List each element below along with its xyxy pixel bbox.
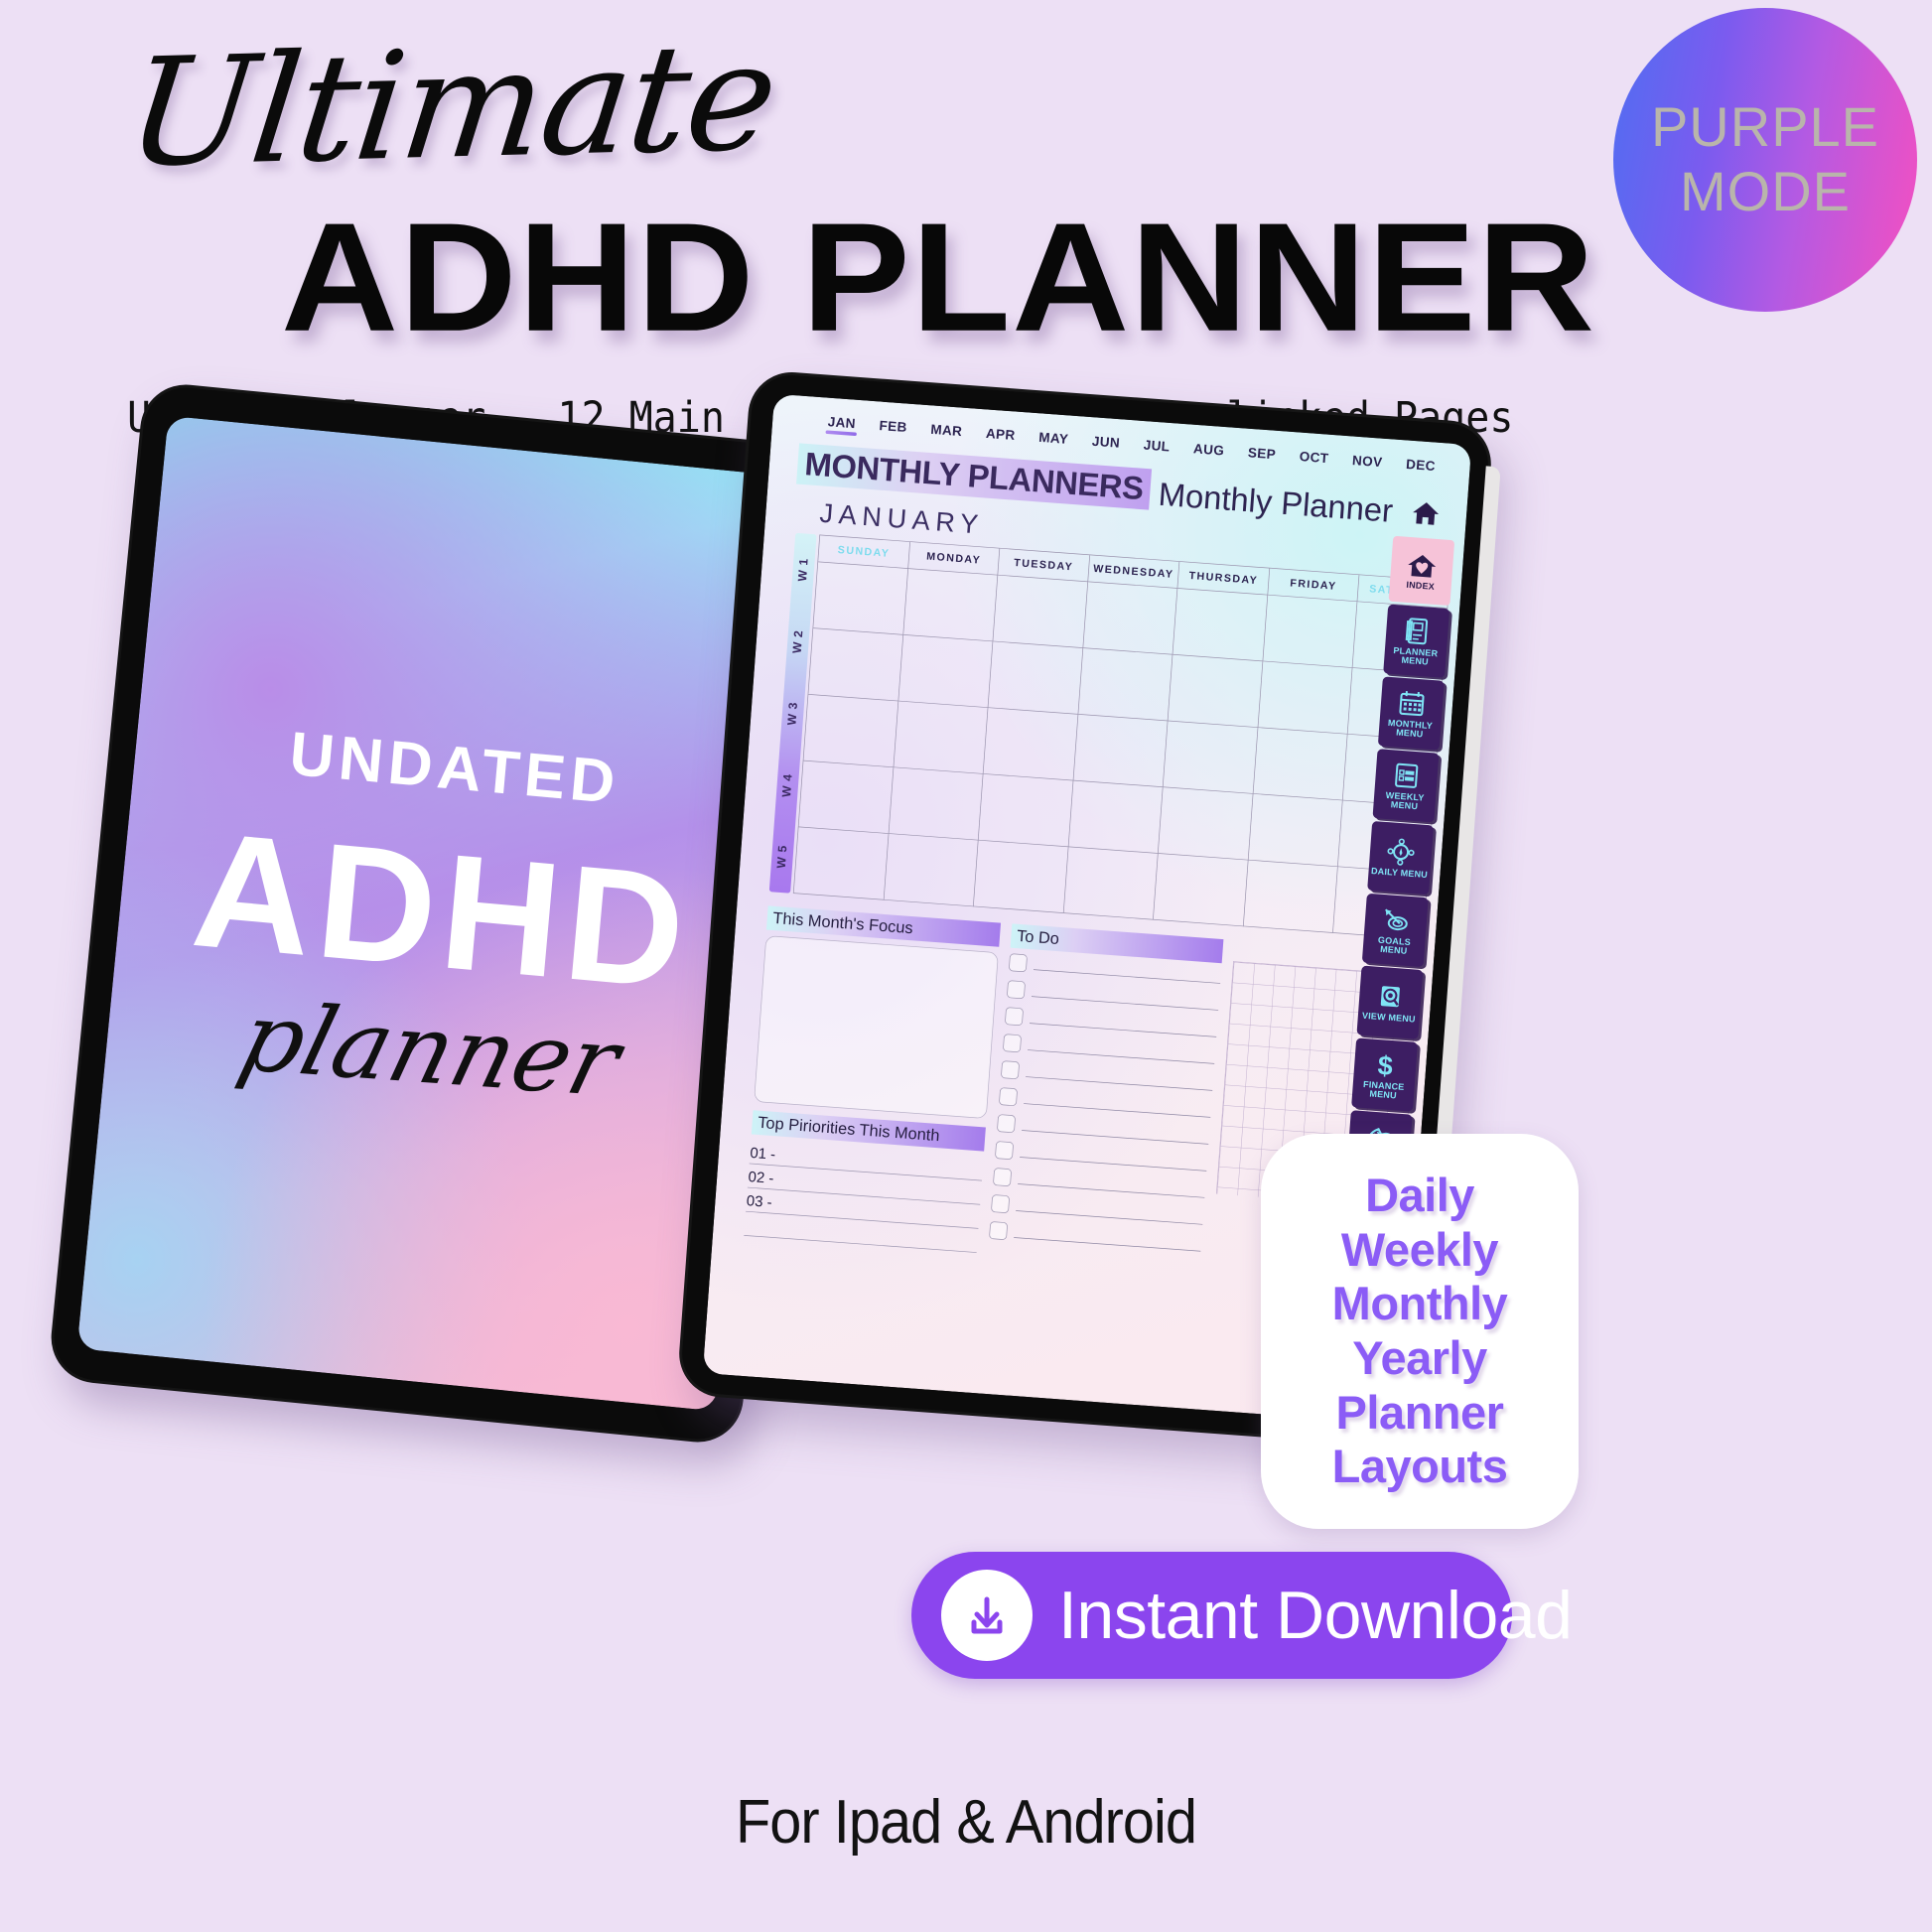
sidebar-item-weekly-menu[interactable]: WEEKLY MENU [1372, 749, 1439, 822]
sidebar-item-label: DAILY MENU [1371, 867, 1429, 881]
calendar-cell[interactable] [974, 841, 1068, 913]
week-label-w2: W 2 [785, 605, 812, 678]
todo-write-line[interactable] [1016, 1199, 1203, 1225]
compass-icon [1386, 836, 1416, 868]
calendar-cell[interactable] [898, 635, 993, 708]
focus-column: This Month's Focus Top Piriorities This … [744, 906, 1001, 1254]
calendar-wrapper: W 1 W 2 W 3 W 4 W 5 SUNDAY MONDAY TUESDA… [751, 532, 1455, 941]
dollar-icon: $ [1370, 1048, 1400, 1080]
todo-write-line[interactable] [1018, 1173, 1205, 1198]
target-arrow-icon [1381, 904, 1411, 936]
sidebar-item-daily-menu[interactable]: DAILY MENU [1367, 821, 1434, 895]
month-tab-oct[interactable]: OCT [1299, 450, 1329, 471]
month-tab-aug[interactable]: AUG [1192, 442, 1224, 463]
poster-canvas: Ultimate ADHD PLANNER Undated Planner - … [0, 0, 1932, 1932]
calendar-grid: SUNDAY MONDAY TUESDAY WEDNESDAY THURSDAY… [793, 535, 1449, 940]
sidebar-item-label: FINANCE MENU [1352, 1079, 1415, 1102]
calendar-cell[interactable] [1258, 661, 1352, 734]
todo-row[interactable] [1003, 1034, 1215, 1066]
sidebar-item-goals-menu[interactable]: GOALS MENU [1362, 894, 1429, 967]
svg-text:$: $ [1377, 1050, 1394, 1080]
month-tab-feb[interactable]: FEB [879, 419, 907, 440]
todo-column: To Do [988, 924, 1223, 1270]
month-tab-nov[interactable]: NOV [1351, 454, 1383, 475]
todo-write-line[interactable] [1024, 1092, 1211, 1118]
home-icon [1410, 499, 1442, 527]
purple-mode-badge: PURPLE MODE [1613, 8, 1917, 312]
calendar-cell[interactable] [808, 628, 902, 701]
calendar-cell[interactable] [1068, 781, 1163, 854]
todo-checkbox[interactable] [1001, 1060, 1020, 1079]
todo-row[interactable] [993, 1168, 1205, 1200]
calendar-cell[interactable] [1248, 794, 1342, 867]
calendar-cell[interactable] [1078, 648, 1173, 721]
todo-checkbox[interactable] [1005, 1007, 1024, 1026]
calendar-cell[interactable] [1169, 655, 1263, 728]
month-tab-jul[interactable]: JUL [1143, 438, 1171, 459]
sidebar-item-monthly-menu[interactable]: MONTHLY MENU [1378, 676, 1445, 750]
page-title: ADHD PLANNER [281, 189, 1595, 365]
calendar-cell[interactable] [1164, 722, 1258, 794]
week-label-w5: W 5 [769, 820, 796, 894]
calendar-cell[interactable] [1154, 854, 1248, 926]
priority-label-3: 03 - [746, 1193, 772, 1212]
todo-checkbox[interactable] [989, 1221, 1008, 1240]
todo-checkbox[interactable] [997, 1114, 1016, 1133]
feature-line-4: Yearly [1352, 1332, 1487, 1385]
todo-row[interactable] [1001, 1060, 1213, 1093]
calendar-cell[interactable] [1253, 728, 1347, 800]
feature-line-2: Weekly [1341, 1224, 1498, 1277]
todo-row[interactable] [989, 1221, 1201, 1254]
calendar-cell[interactable] [1263, 596, 1357, 668]
calendar-cell[interactable] [984, 708, 1078, 780]
sidebar-item-planner-menu[interactable]: PLANNER MENU [1383, 605, 1449, 678]
sidebar-item-label: GOALS MENU [1362, 934, 1425, 957]
todo-row[interactable] [1005, 1007, 1217, 1039]
script-title: Ultimate [119, 11, 783, 201]
download-icon-circle [941, 1570, 1033, 1661]
calendar-cell[interactable] [1173, 589, 1268, 661]
sidebar-item-label: MONTHLY MENU [1379, 718, 1442, 741]
home-button[interactable] [1402, 491, 1450, 534]
todo-row[interactable] [999, 1087, 1211, 1120]
home-heart-icon [1406, 550, 1438, 582]
footer-text: For Ipad & Android [68, 1787, 1864, 1858]
month-tab-mar[interactable]: MAR [930, 422, 963, 444]
todo-write-line[interactable] [1020, 1146, 1207, 1172]
calendar-cell[interactable] [794, 827, 889, 899]
month-tab-apr[interactable]: APR [985, 426, 1016, 447]
calendar-cell[interactable] [903, 569, 998, 641]
todo-write-line[interactable] [1034, 958, 1221, 984]
todo-checkbox[interactable] [1003, 1034, 1022, 1052]
notebook-icon [1403, 615, 1431, 646]
sidebar-item-label: PLANNER MENU [1384, 645, 1447, 668]
mode-badge-line2: MODE [1680, 163, 1851, 221]
instant-download-button[interactable]: Instant Download [911, 1552, 1512, 1679]
feature-line-1: Daily [1365, 1170, 1474, 1222]
calendar-cell[interactable] [1159, 787, 1253, 860]
todo-write-line[interactable] [1032, 985, 1219, 1011]
sidebar-item-index[interactable]: INDEX [1389, 536, 1455, 606]
todo-checkbox[interactable] [995, 1141, 1014, 1160]
calendar-cell[interactable] [988, 642, 1082, 715]
sidebar-item-label: VIEW MENU [1362, 1012, 1416, 1025]
sidebar-item-label: WEEKLY MENU [1373, 790, 1436, 813]
feature-layouts-badge: Daily Weekly Monthly Yearly Planner Layo… [1261, 1134, 1579, 1529]
calendar-cell[interactable] [798, 761, 893, 834]
priority-label-1: 01 - [750, 1145, 776, 1164]
calendar-cell[interactable] [889, 767, 983, 840]
todo-row[interactable] [995, 1141, 1207, 1173]
priorities-list: 01 - 02 - 03 - [744, 1140, 983, 1253]
todo-write-line[interactable] [1030, 1012, 1217, 1037]
week-label-w3: W 3 [779, 677, 806, 751]
focus-notes-box[interactable] [754, 935, 999, 1119]
calendar-cell[interactable] [993, 576, 1087, 648]
sidebar-item-label: INDEX [1406, 581, 1435, 593]
calendar-icon [1397, 687, 1427, 719]
todo-checkbox[interactable] [1007, 980, 1026, 999]
todo-write-line[interactable] [1014, 1226, 1201, 1252]
month-tab-jun[interactable]: JUN [1091, 434, 1120, 455]
mode-badge-line1: PURPLE [1651, 98, 1879, 157]
month-tab-dec[interactable]: DEC [1405, 458, 1436, 479]
eye-icon [1375, 981, 1405, 1013]
calendar-cell[interactable] [1063, 847, 1158, 919]
feature-line-3: Monthly [1332, 1278, 1508, 1330]
calendar-cell[interactable] [979, 774, 1073, 847]
sidebar-item-finance-menu[interactable]: $ FINANCE MENU [1351, 1037, 1418, 1111]
feature-line-5: Planner [1336, 1387, 1504, 1440]
week-label-w1: W 1 [790, 533, 817, 607]
todo-row[interactable] [1007, 980, 1219, 1013]
download-button-label: Instant Download [1058, 1577, 1572, 1654]
todo-checkbox[interactable] [991, 1194, 1010, 1213]
feature-line-6: Layouts [1332, 1441, 1508, 1493]
todo-row[interactable] [997, 1114, 1209, 1147]
todo-row[interactable] [991, 1194, 1203, 1227]
month-tab-may[interactable]: MAY [1037, 430, 1068, 451]
todo-write-line[interactable] [1022, 1119, 1209, 1145]
todo-checkbox[interactable] [999, 1087, 1018, 1106]
calendar-cell[interactable] [803, 695, 897, 767]
calendar-cell[interactable] [894, 702, 988, 774]
priority-label-2: 02 - [748, 1169, 774, 1187]
calendar-cell[interactable] [813, 562, 907, 634]
todo-checkbox[interactable] [993, 1168, 1012, 1186]
sidebar-item-view-menu[interactable]: VIEW MENU [1356, 966, 1423, 1039]
cover-text-block: UNDATED ADHD planner [105, 705, 777, 1132]
download-icon [961, 1589, 1013, 1641]
calendar-cell[interactable] [1083, 582, 1177, 654]
month-tab-sep[interactable]: SEP [1247, 446, 1276, 467]
calendar-cell[interactable] [1073, 715, 1168, 787]
todo-checkbox[interactable] [1009, 953, 1028, 972]
calendar-cell[interactable] [884, 834, 978, 906]
weekly-list-icon [1392, 759, 1422, 791]
month-tab-jan[interactable]: JAN [827, 415, 856, 436]
todo-list [989, 953, 1221, 1254]
todo-write-line[interactable] [1026, 1065, 1213, 1091]
week-label-w4: W 4 [774, 749, 801, 822]
calendar-cell[interactable] [1244, 861, 1338, 933]
todo-write-line[interactable] [1028, 1038, 1215, 1064]
page-subtitle: Monthly Planner [1158, 477, 1395, 528]
